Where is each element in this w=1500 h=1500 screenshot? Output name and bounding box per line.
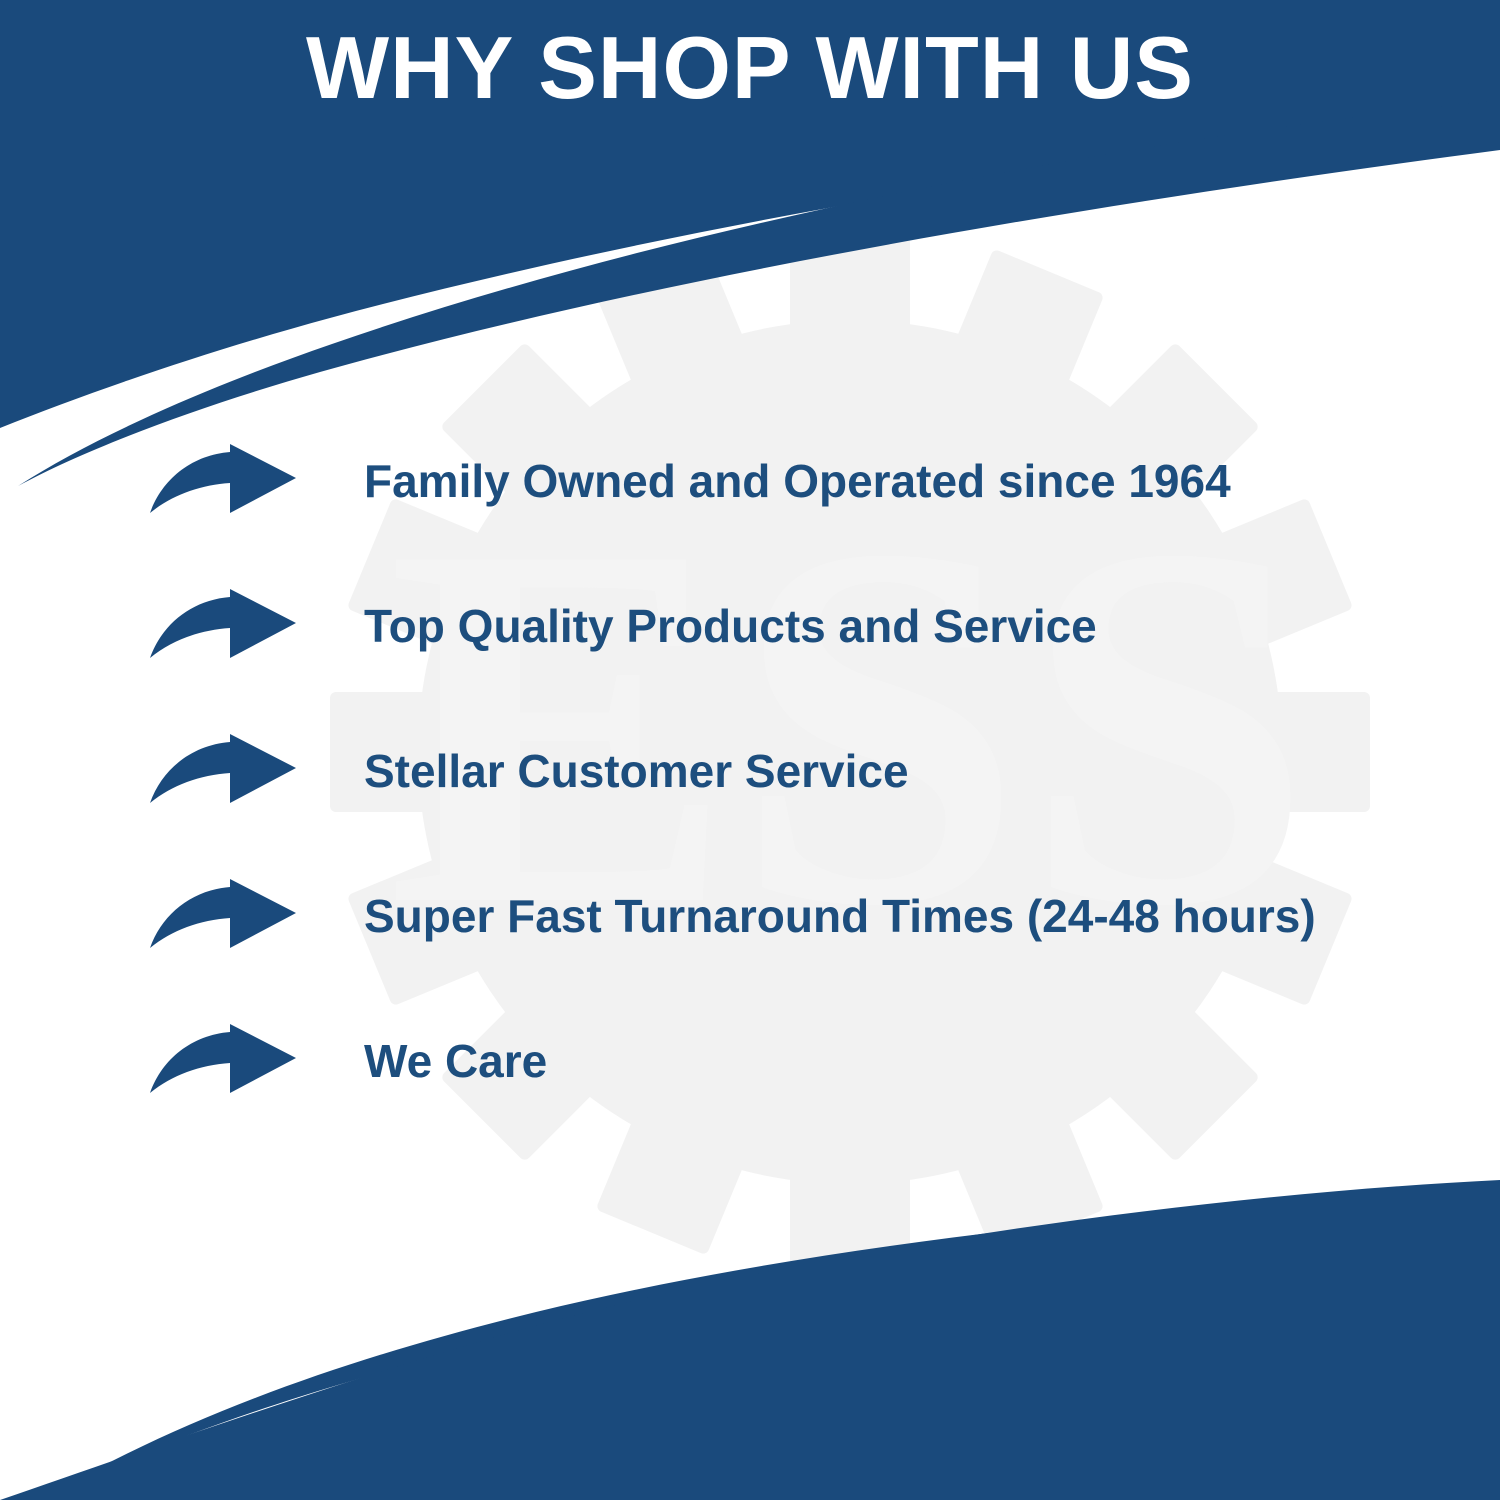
page-title: WHY SHOP WITH US — [0, 22, 1500, 114]
benefits-list: Family Owned and Operated since 1964 Top… — [148, 432, 1448, 1110]
curved-arrow-right-icon — [148, 443, 298, 519]
curved-arrow-right-icon — [148, 733, 298, 809]
list-item: Super Fast Turnaround Times (24-48 hours… — [148, 867, 1448, 965]
list-item-label: Stellar Customer Service — [364, 746, 1448, 797]
list-item: Stellar Customer Service — [148, 722, 1448, 820]
list-item: We Care — [148, 1012, 1448, 1110]
curved-arrow-right-icon — [148, 588, 298, 664]
curved-arrow-right-icon — [148, 1023, 298, 1099]
list-item: Top Quality Products and Service — [148, 577, 1448, 675]
list-item-label: Family Owned and Operated since 1964 — [364, 456, 1448, 507]
list-item-label: Top Quality Products and Service — [364, 601, 1448, 652]
list-item: Family Owned and Operated since 1964 — [148, 432, 1448, 530]
list-item-label: We Care — [364, 1036, 1448, 1087]
why-shop-with-us-poster: ESS WHY SHOP WITH US Family Owned and Op… — [0, 0, 1500, 1500]
list-item-label: Super Fast Turnaround Times (24-48 hours… — [364, 891, 1448, 942]
curved-arrow-right-icon — [148, 878, 298, 954]
